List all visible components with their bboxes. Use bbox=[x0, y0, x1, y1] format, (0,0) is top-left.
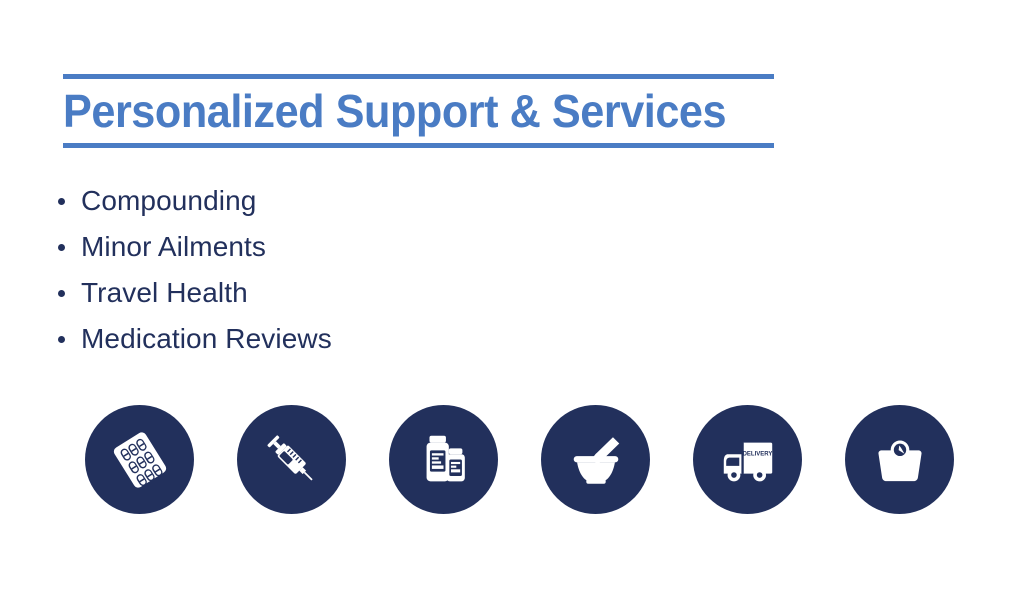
service-icon-row: DELIVERY bbox=[0, 405, 1025, 515]
delivery-truck-icon: DELIVERY bbox=[717, 429, 779, 491]
slide-canvas: Personalized Support & Services Compound… bbox=[0, 0, 1025, 590]
title-rule-bottom bbox=[63, 143, 774, 148]
icon-badge-blister-pack bbox=[85, 405, 194, 514]
page-title: Personalized Support & Services bbox=[63, 79, 731, 143]
icon-badge-delivery-truck: DELIVERY bbox=[693, 405, 802, 514]
blister-pack-icon bbox=[109, 429, 171, 491]
syringe-icon bbox=[261, 429, 323, 491]
list-item-label: Medication Reviews bbox=[81, 323, 332, 354]
icon-badge-medicine-bottles bbox=[389, 405, 498, 514]
services-column-right: Injections and Immunizations Compression… bbox=[487, 178, 1025, 362]
list-item-label: Minor Ailments bbox=[81, 231, 266, 262]
bullet-dot-icon bbox=[58, 244, 65, 251]
icon-badge-weight-scale bbox=[845, 405, 954, 514]
bullet-dot-icon bbox=[58, 290, 65, 297]
list-item: Minor Ailments bbox=[58, 224, 487, 270]
medicine-bottles-icon bbox=[413, 429, 475, 491]
icon-badge-syringe bbox=[237, 405, 346, 514]
bullet-dot-icon bbox=[58, 336, 65, 343]
list-item: Medication Reviews bbox=[58, 316, 487, 362]
heading-block: Personalized Support & Services bbox=[63, 74, 774, 148]
list-item: Travel Health bbox=[58, 270, 487, 316]
list-item-label: Compounding bbox=[81, 185, 256, 216]
services-columns: Compounding Minor Ailments Travel Health… bbox=[0, 178, 1025, 362]
delivery-truck-label: DELIVERY bbox=[742, 451, 772, 457]
list-item: Compounding bbox=[58, 178, 487, 224]
services-list-left: Compounding Minor Ailments Travel Health… bbox=[58, 178, 487, 362]
mortar-and-pestle-icon bbox=[565, 429, 627, 491]
services-column-left: Compounding Minor Ailments Travel Health… bbox=[0, 178, 487, 362]
weight-scale-icon bbox=[869, 429, 931, 491]
bullet-dot-icon bbox=[58, 198, 65, 205]
icon-badge-mortar-pestle bbox=[541, 405, 650, 514]
list-item-label: Travel Health bbox=[81, 277, 248, 308]
